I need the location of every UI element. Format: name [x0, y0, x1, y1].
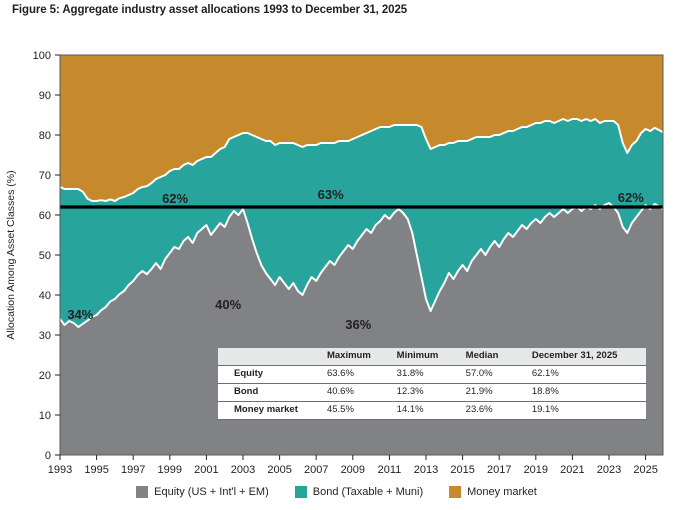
y-tick-label: 60 — [39, 210, 51, 222]
column-header-minimum: Minimum — [393, 348, 462, 365]
y-tick-label: 100 — [33, 50, 51, 62]
x-tick-label: 2007 — [304, 464, 328, 476]
x-tick-label: 2011 — [378, 464, 402, 476]
table-row: Money market 45.5% 14.1% 23.6% 19.1% — [218, 401, 646, 419]
y-tick-label: 70 — [39, 170, 51, 182]
table-row: Equity 63.6% 31.8% 57.0% 62.1% — [218, 365, 646, 383]
x-tick-label: 2013 — [414, 464, 438, 476]
x-tick-label: 1997 — [121, 464, 145, 476]
row-label-equity: Equity — [218, 365, 323, 383]
equity-median: 57.0% — [462, 365, 528, 383]
table-header: Maximum Minimum Median December 31, 2025 — [218, 348, 646, 365]
bond-current: 18.8% — [528, 383, 646, 401]
equity-swatch-icon — [136, 486, 148, 498]
y-tick-label: 30 — [39, 330, 51, 342]
y-tick-label: 90 — [39, 90, 51, 102]
x-tick-label: 2009 — [341, 464, 365, 476]
column-header-blank — [218, 348, 323, 365]
y-tick-label: 80 — [39, 130, 51, 142]
money-market-median: 23.6% — [462, 401, 528, 419]
column-header-current-date: December 31, 2025 — [528, 348, 646, 365]
legend-label-money-market: Money market — [467, 486, 537, 498]
x-tick-label: 2003 — [231, 464, 255, 476]
x-tick-label: 2025 — [633, 464, 657, 476]
chart-annotation: 63% — [318, 187, 344, 202]
figure-container: Figure 5: Aggregate industry asset alloc… — [0, 0, 673, 510]
y-axis-title: Allocation Among Asset Classes (%) — [5, 170, 17, 339]
y-tick-label: 40 — [39, 290, 51, 302]
money-market-current: 19.1% — [528, 401, 646, 419]
column-header-median: Median — [462, 348, 528, 365]
equity-maximum: 63.6% — [323, 365, 393, 383]
table-body: Equity 63.6% 31.8% 57.0% 62.1% Bond 40.6… — [218, 365, 646, 419]
x-tick-label: 2017 — [487, 464, 511, 476]
bond-maximum: 40.6% — [323, 383, 393, 401]
legend-label-equity: Equity (US + Int'l + EM) — [154, 486, 269, 498]
bond-minimum: 12.3% — [393, 383, 462, 401]
x-tick-label: 2023 — [597, 464, 621, 476]
y-tick-label: 10 — [39, 410, 51, 422]
chart-annotation: 62% — [618, 190, 644, 205]
chart-annotation: 40% — [215, 297, 241, 312]
bond-swatch-icon — [295, 486, 307, 498]
equity-current: 62.1% — [528, 365, 646, 383]
x-tick-label: 2005 — [267, 464, 291, 476]
table-header-row: Maximum Minimum Median December 31, 2025 — [218, 348, 646, 365]
y-tick-label: 20 — [39, 370, 51, 382]
legend-item-equity: Equity (US + Int'l + EM) — [136, 486, 269, 498]
y-tick-label: 0 — [45, 450, 51, 462]
x-tick-label: 2019 — [524, 464, 548, 476]
money-market-minimum: 14.1% — [393, 401, 462, 419]
money-market-swatch-icon — [449, 486, 461, 498]
chart-annotation: 62% — [162, 191, 188, 206]
chart-annotation: 34% — [67, 307, 93, 322]
summary-statistics-table: Maximum Minimum Median December 31, 2025… — [218, 348, 646, 420]
money-market-maximum: 45.5% — [323, 401, 393, 419]
legend-item-money-market: Money market — [449, 486, 537, 498]
row-label-bond: Bond — [218, 383, 323, 401]
x-tick-label: 1993 — [48, 464, 72, 476]
legend-label-bond: Bond (Taxable + Muni) — [313, 486, 423, 498]
legend-item-bond: Bond (Taxable + Muni) — [295, 486, 423, 498]
x-tick-label: 1999 — [158, 464, 182, 476]
x-tick-label: 1995 — [84, 464, 108, 476]
x-tick-label: 2015 — [450, 464, 474, 476]
table-row: Bond 40.6% 12.3% 21.9% 18.8% — [218, 383, 646, 401]
chart-legend: Equity (US + Int'l + EM) Bond (Taxable +… — [0, 486, 673, 498]
x-tick-label: 2001 — [194, 464, 218, 476]
column-header-maximum: Maximum — [323, 348, 393, 365]
y-tick-label: 50 — [39, 250, 51, 262]
bond-median: 21.9% — [462, 383, 528, 401]
chart-area: 0102030405060708090100199319951997199920… — [0, 0, 673, 510]
x-tick-label: 2021 — [560, 464, 584, 476]
equity-minimum: 31.8% — [393, 365, 462, 383]
row-label-money-market: Money market — [218, 401, 323, 419]
chart-annotation: 36% — [345, 317, 371, 332]
